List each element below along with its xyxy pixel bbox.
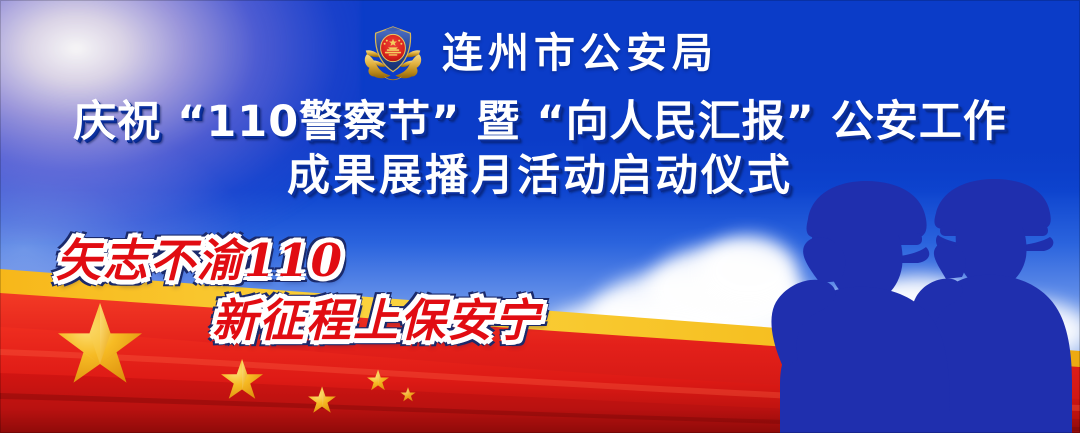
police-badge-icon (362, 22, 424, 84)
event-title-line-1: 庆祝 “110警察节” 暨 “向人民汇报” 公安工作 (0, 100, 1080, 146)
event-title-line-2: 成果展播月活动启动仪式 (0, 154, 1080, 200)
event-title-block: 庆祝 “110警察节” 暨 “向人民汇报” 公安工作 成果展播月活动启动仪式 (0, 100, 1080, 199)
organization-name: 连州市公安局 (442, 33, 718, 74)
slogan-line-2: 新征程上保安宁 (212, 298, 541, 343)
slogan-line-1: 矢志不渝110 (56, 238, 344, 283)
saluting-officers-silhouette (750, 173, 1080, 433)
police-event-banner: 连州市公安局 庆祝 “110警察节” 暨 “向人民汇报” 公安工作 成果展播月活… (0, 0, 1080, 433)
banner-header: 连州市公安局 (0, 22, 1080, 84)
